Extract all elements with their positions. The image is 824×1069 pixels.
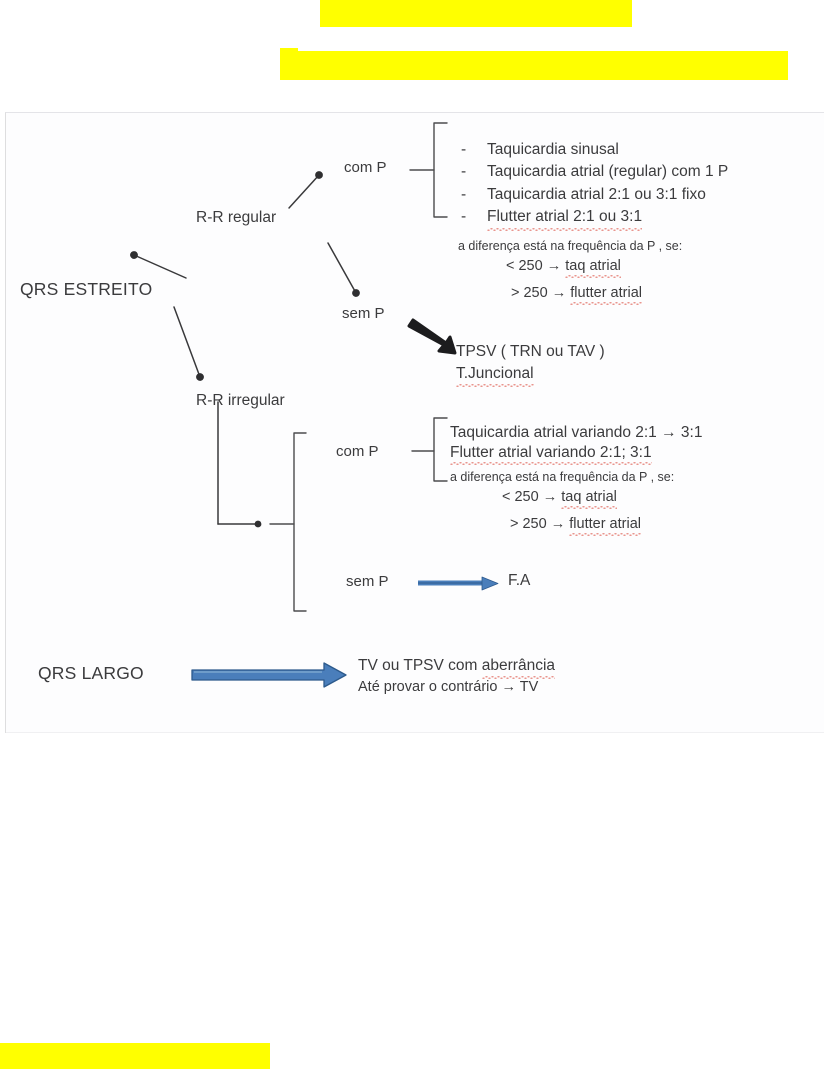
- dash-bullet: -: [461, 139, 467, 161]
- result-t-juncional: T.Juncional: [456, 363, 534, 385]
- label-sem-p-irregular: sem P: [346, 573, 389, 591]
- list-com-p-irregular: Taquicardia atrial variando 2:1 → 3:1 Fl…: [450, 423, 702, 463]
- list-item: Flutter atrial variando 2:1; 3:1: [450, 443, 652, 463]
- rule-low-regular: < 250 → taq atrial: [506, 258, 621, 276]
- arrow-glyph: →: [543, 489, 558, 505]
- dash-bullet: -: [461, 184, 467, 206]
- arrow-glyph: →: [547, 258, 562, 274]
- rule-high-result: flutter atrial: [570, 285, 642, 303]
- list-item-label: Taquicardia sinusal: [487, 139, 619, 161]
- rule-low-result: taq atrial: [561, 489, 617, 507]
- node-qrs-estreito: QRS ESTREITO: [20, 279, 152, 300]
- top-highlight-bar-2: [280, 51, 788, 80]
- arrow-glyph: →: [551, 516, 566, 532]
- list-com-p-regular: - Taquicardia sinusal - Taquicardia atri…: [461, 139, 728, 229]
- rule-low-value: < 250: [502, 489, 539, 505]
- rule-high-irregular: > 250 → flutter atrial: [510, 516, 641, 534]
- bottom-highlight-bar: [0, 1043, 270, 1069]
- result-fa: F.A: [508, 572, 530, 591]
- rule-low-irregular: < 250 → taq atrial: [502, 489, 617, 507]
- result-tv-line: TV ou TPSV com aberrância: [358, 655, 555, 677]
- dash-bullet: -: [461, 206, 467, 228]
- node-rr-irregular: R-R irregular: [196, 392, 285, 411]
- top-highlight-bar-2-edge: [280, 48, 298, 80]
- label-com-p-regular: com P: [344, 159, 387, 177]
- top-highlight-bar-1: [320, 0, 632, 27]
- list-item: Taquicardia atrial variando 2:1 → 3:1: [450, 423, 702, 443]
- list-item-label: Taquicardia atrial (regular) com 1 P: [487, 161, 728, 183]
- list-item: - Taquicardia sinusal: [461, 139, 728, 161]
- list-item-label: Flutter atrial 2:1 ou 3:1: [487, 206, 642, 228]
- arrow-glyph: →: [552, 285, 567, 301]
- list-item: - Taquicardia atrial 2:1 ou 3:1 fixo: [461, 184, 728, 206]
- tachycardia-flowchart-figure: QRS ESTREITO R-R regular R-R irregular c…: [5, 112, 824, 733]
- result-qrs-largo-group: TV ou TPSV com aberrância Até provar o c…: [358, 655, 555, 698]
- result-tpsv-group: TPSV ( TRN ou TAV ) T.Juncional: [456, 341, 605, 385]
- rule-high-regular: > 250 → flutter atrial: [511, 285, 642, 303]
- rule-high-result: flutter atrial: [569, 516, 641, 534]
- thick-black-arrow: [409, 320, 455, 353]
- node-rr-regular: R-R regular: [196, 209, 276, 228]
- blue-thin-arrow: [418, 577, 498, 590]
- rule-low-result: taq atrial: [565, 258, 621, 276]
- rule-low-value: < 250: [506, 258, 543, 274]
- result-ate-provar: Até provar o contrário → TV: [358, 677, 555, 698]
- rule-high-value: > 250: [510, 516, 547, 532]
- note-frequencia-regular: a diferença está na frequência da P , se…: [458, 239, 682, 254]
- list-item-label: Taquicardia atrial 2:1 ou 3:1 fixo: [487, 184, 706, 206]
- label-sem-p-regular: sem P: [342, 305, 385, 323]
- dash-bullet: -: [461, 161, 467, 183]
- result-tv-text: TV ou TPSV com aberrância: [358, 657, 555, 674]
- blue-block-arrow: [192, 663, 346, 687]
- label-com-p-irregular: com P: [336, 443, 379, 461]
- squiggle-word: aberrância: [482, 655, 555, 677]
- rule-high-value: > 250: [511, 285, 548, 301]
- result-tpsv: TPSV ( TRN ou TAV ): [456, 341, 605, 363]
- list-item: - Taquicardia atrial (regular) com 1 P: [461, 161, 728, 183]
- node-qrs-largo: QRS LARGO: [38, 663, 144, 684]
- list-item: - Flutter atrial 2:1 ou 3:1: [461, 206, 728, 228]
- note-frequencia-irregular: a diferença está na frequência da P , se…: [450, 470, 674, 485]
